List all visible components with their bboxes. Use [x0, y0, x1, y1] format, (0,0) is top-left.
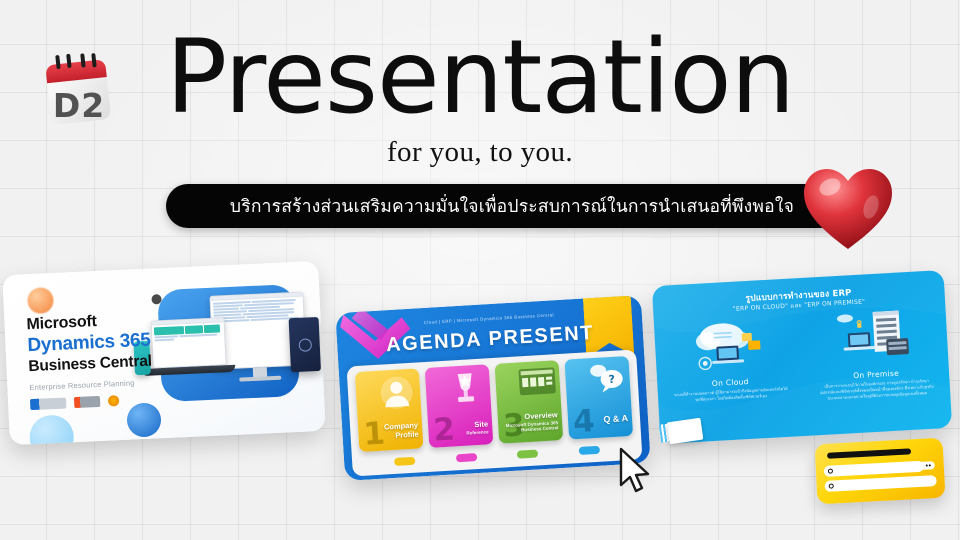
svg-text:?: ?: [608, 373, 615, 386]
card-agenda-present[interactable]: Cloud | ERP | Microsoft Dynamics 365 Bus…: [335, 295, 650, 481]
dynamics-tagline: Enterprise Resource Planning: [29, 376, 179, 392]
dynamics-text-block: Microsoft Dynamics 365 Business Central …: [26, 309, 180, 410]
headline-block: Presentation for you, to you.: [0, 26, 960, 169]
blue-sphere-decoration: [126, 402, 162, 438]
agenda-tile-1-subtitle: Profile: [395, 429, 419, 439]
cyan-sphere-decoration: [29, 414, 75, 445]
agenda-tile-2-number: 2: [433, 414, 456, 446]
agenda-dot-2[interactable]: [456, 453, 477, 462]
agenda-tile-4-number: 4: [572, 406, 595, 438]
agenda-dot-3[interactable]: [517, 449, 538, 458]
page-title: Presentation: [0, 26, 960, 130]
agenda-tile-3-label: Overview Microsoft Dynamics 365 Business…: [498, 412, 559, 434]
orange-blob-decoration: [27, 287, 54, 314]
partner-logo-row: [30, 392, 180, 410]
heart-icon: [800, 163, 896, 255]
agenda-tile-1[interactable]: 1 Company Profile: [355, 368, 424, 452]
user-avatar-icon: [379, 375, 415, 411]
agenda-tile-1-label: Company Profile: [384, 422, 419, 441]
note-field-row-2[interactable]: [824, 475, 936, 492]
chat-bubble-icon: ?: [588, 362, 626, 394]
note-bullet-icon-1: [828, 468, 833, 473]
agenda-tile-3[interactable]: 3 Overview Microsoft Dynamics 365 Busine…: [495, 360, 564, 444]
building-server-icon: [833, 308, 916, 364]
agenda-tile-2-title: Site: [474, 420, 488, 430]
agenda-tile-2[interactable]: 2 Site Reference: [425, 364, 494, 448]
erp-column-on-cloud: On Cloud ระบบที่ทำงานบนคลาวด์ ผู้ใช้สามา…: [660, 314, 799, 404]
agenda-dot-4[interactable]: [578, 446, 599, 455]
agenda-tile-4-title: Q & A: [603, 413, 628, 424]
brochure-mockup: [289, 317, 321, 372]
tagline-banner: บริการสร้างส่วนเสริมความมั่นใจเพื่อประสบ…: [166, 184, 858, 228]
agenda-tile-row: 1 Company Profile 2 Site Reference: [355, 356, 633, 452]
trophy-icon: [450, 371, 482, 407]
tagline-text: บริการสร้างส่วนเสริมความมั่นใจเพื่อประสบ…: [230, 192, 794, 220]
agenda-tile-4[interactable]: ? 4 Q & A: [564, 356, 633, 440]
yellow-form-card[interactable]: [815, 438, 946, 505]
card-dynamics-365[interactable]: Microsoft Dynamics 365 Business Central …: [2, 261, 325, 445]
agenda-tile-1-number: 1: [363, 419, 386, 451]
agenda-tile-3-subtitle: Microsoft Dynamics 365 Business Central: [498, 420, 559, 434]
agenda-sheet: 1 Company Profile 2 Site Reference: [346, 349, 642, 476]
microsoft-dynamics-partner-logo: [30, 397, 66, 410]
agenda-tile-2-label: Site Reference: [466, 421, 489, 436]
agenda-tile-2-subtitle: Reference: [466, 429, 488, 435]
microsoft-partner-logo: [74, 396, 100, 408]
heart-glyph: [800, 163, 896, 255]
note-bullet-icon-2: [829, 483, 834, 488]
dashboard-icon: [517, 366, 557, 396]
agenda-dot-1[interactable]: [394, 457, 415, 466]
agenda-tile-4-label: Q & A: [603, 413, 628, 425]
erp-column-on-premise: On Premise เป็นการวางระบบไว้ภายในองค์กรเ…: [805, 306, 944, 402]
cloud-laptop-icon: [691, 316, 766, 372]
mouse-cursor: [618, 447, 652, 495]
note-field-row-1[interactable]: [824, 461, 924, 477]
certification-badge-logo: [108, 395, 119, 406]
paper-sheet-decoration: [667, 418, 704, 445]
note-title-bar: [827, 448, 911, 458]
